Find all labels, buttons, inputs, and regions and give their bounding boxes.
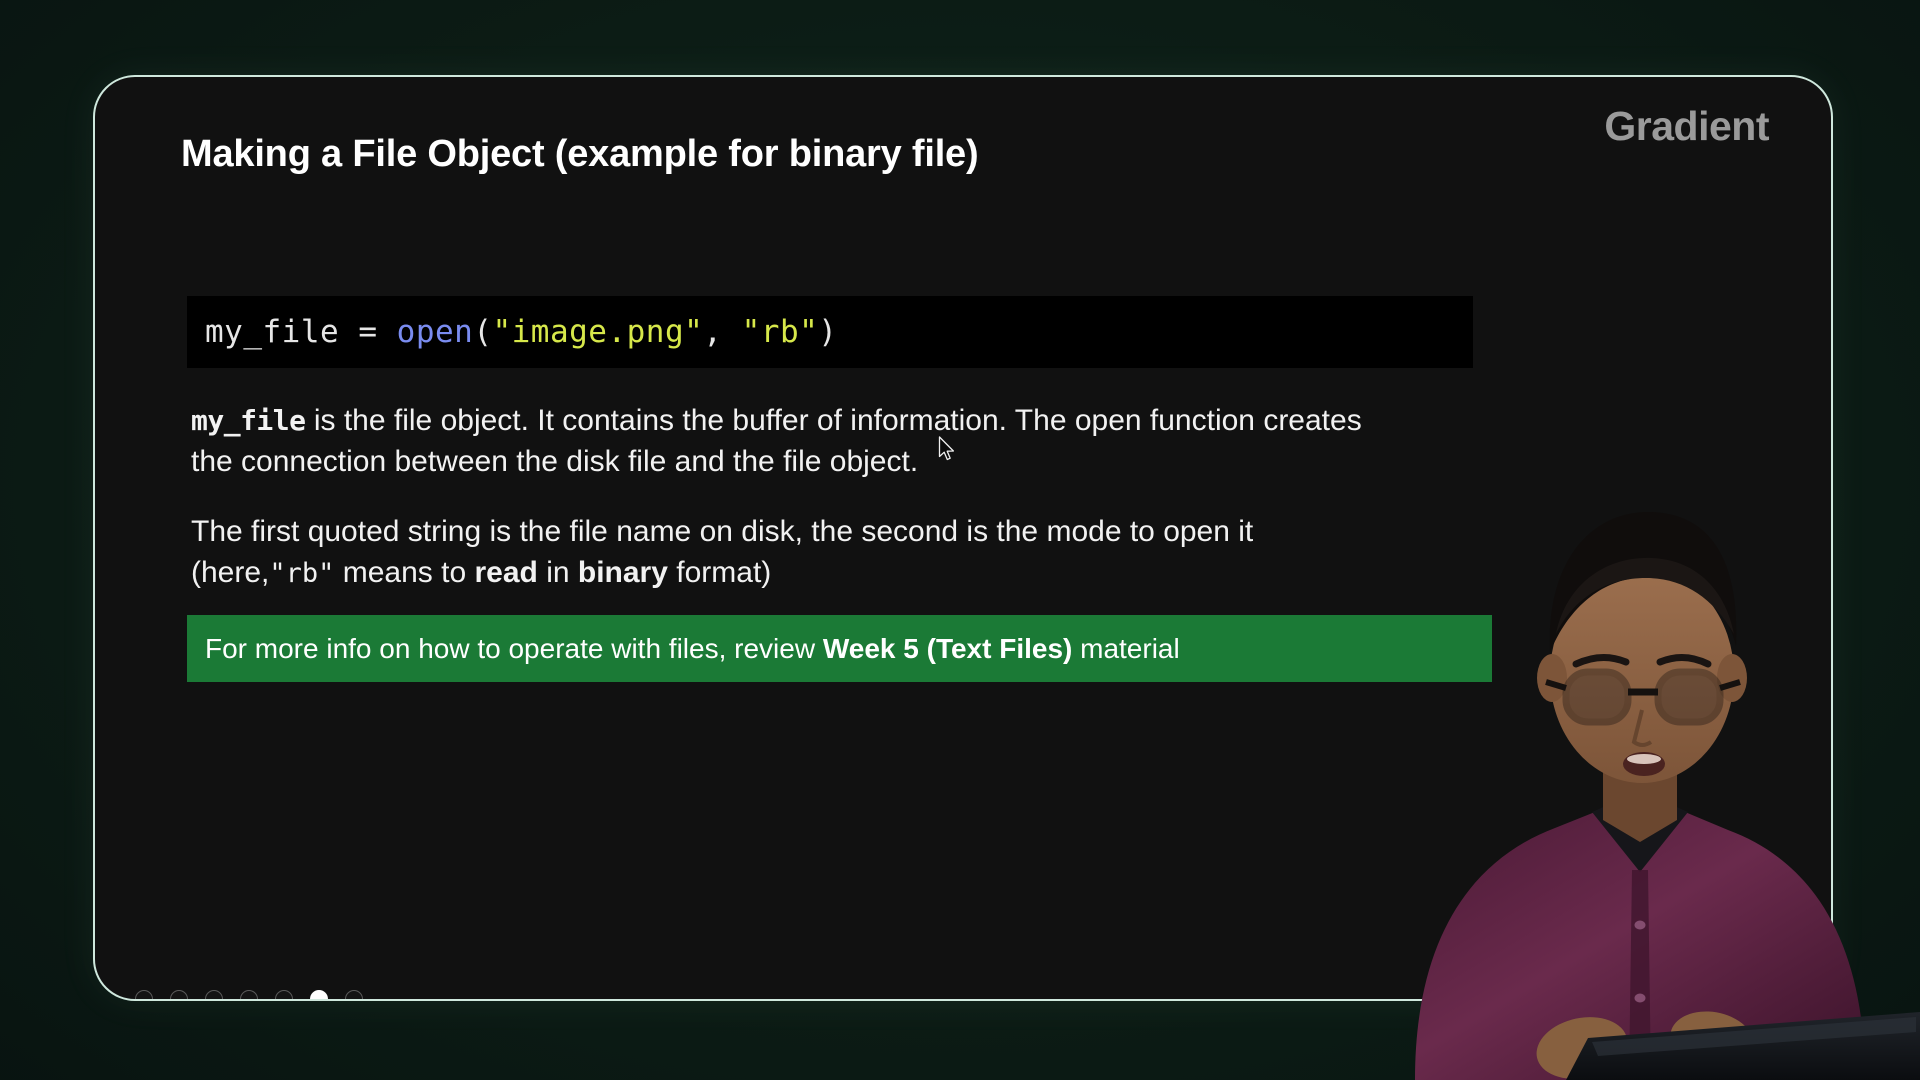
code-token-function: open	[397, 314, 474, 350]
body-paragraph-2: The first quoted string is the file name…	[191, 512, 1381, 594]
laptop	[1566, 1012, 1920, 1080]
paragraph-2-joiner: in	[538, 556, 578, 589]
code-token-close-paren: )	[818, 314, 837, 350]
code-line: my_file = open("image.png", "rb")	[205, 317, 837, 348]
pagination-dots[interactable]	[135, 990, 363, 1001]
pagination-dot-2[interactable]	[170, 990, 188, 1001]
callout-text: For more info on how to operate with fil…	[205, 635, 1180, 663]
slide-title: Making a File Object (example for binary…	[181, 133, 978, 176]
paragraph-1-text: is the file object. It contains the buff…	[191, 404, 1362, 478]
callout-banner: For more info on how to operate with fil…	[187, 615, 1492, 682]
pagination-dot-4[interactable]	[240, 990, 258, 1001]
code-token-variable: my_file	[205, 314, 339, 350]
code-token-arg-filename: "image.png"	[492, 314, 703, 350]
pagination-dot-5[interactable]	[275, 990, 293, 1001]
pagination-dot-1[interactable]	[135, 990, 153, 1001]
gradient-brand-logo: Gradient	[1604, 103, 1769, 150]
paragraph-2-mid: means to	[334, 556, 474, 589]
callout-lead: For more info on how to operate with fil…	[205, 633, 823, 664]
presentation-stage: Gradient Making a File Object (example f…	[0, 0, 1920, 1080]
inline-code-my-file: my_file	[191, 404, 306, 437]
paragraph-2-bold-read: read	[474, 556, 537, 589]
callout-tail: material	[1072, 633, 1179, 664]
slide-card: Gradient Making a File Object (example f…	[93, 75, 1833, 1001]
paragraph-2-bold-binary: binary	[578, 556, 668, 589]
code-token-open-paren: (	[473, 314, 492, 350]
pagination-dot-3[interactable]	[205, 990, 223, 1001]
code-block: my_file = open("image.png", "rb")	[187, 296, 1473, 368]
pagination-dot-7[interactable]	[345, 990, 363, 1001]
code-token-comma: ,	[703, 314, 741, 350]
pagination-dot-6[interactable]	[310, 990, 328, 1001]
code-token-arg-mode: "rb"	[742, 314, 819, 350]
callout-emphasis: Week 5 (Text Files)	[823, 633, 1073, 664]
code-token-equals: =	[339, 314, 397, 350]
paragraph-2-tail: format)	[668, 556, 771, 589]
body-paragraph-1: my_file is the file object. It contains …	[191, 401, 1381, 483]
inline-code-rb-mode: "rb"	[269, 558, 334, 589]
